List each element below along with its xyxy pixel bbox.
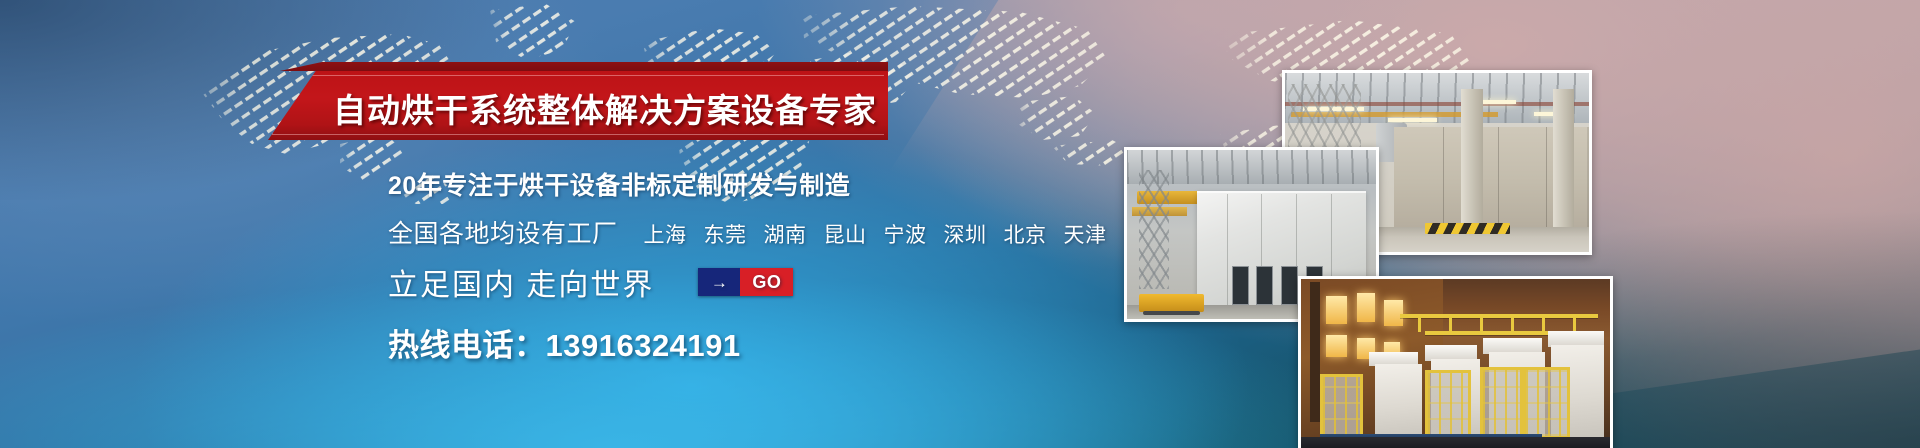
hotline-text: 热线电话：13916324191 [388,320,1148,365]
slogan-text: 立足国内 走向世界 [388,260,654,304]
slogan-line: 立足国内 走向世界 → GO [388,260,1148,304]
copy-block: 20年专注于烘干设备非标定制研发与制造 全国各地均设有工厂 上海 东莞 湖南 昆… [388,166,1148,365]
city-item: 东莞 [704,219,747,249]
city-item: 深圳 [944,219,987,249]
go-button[interactable]: → GO [698,268,793,296]
city-item: 上海 [644,219,687,249]
headline-ribbon: 自动烘干系统整体解决方案设备专家 [268,62,888,140]
factory-line: 全国各地均设有工厂 上海 东莞 湖南 昆山 宁波 深圳 北京 天津 [388,214,1148,250]
promo-banner: 自动烘干系统整体解决方案设备专家 20年专注于烘干设备非标定制研发与制造 全国各… [0,0,1920,448]
city-item: 昆山 [824,219,867,249]
go-button-label: GO [740,268,793,296]
city-item: 北京 [1004,219,1047,249]
factory-label: 全国各地均设有工厂 [388,214,618,250]
page-title: 自动烘干系统整体解决方案设备专家 [268,75,888,140]
city-item: 宁波 [884,219,927,249]
photo-production-line-content [1301,279,1610,448]
subtitle: 20年专注于烘干设备非标定制研发与制造 [388,166,1148,202]
photo-production-line [1298,276,1613,448]
city-list: 上海 东莞 湖南 昆山 宁波 深圳 北京 天津 [644,219,1107,249]
city-item: 湖南 [764,219,807,249]
city-item: 天津 [1064,219,1107,249]
arrow-right-icon: → [698,268,740,296]
